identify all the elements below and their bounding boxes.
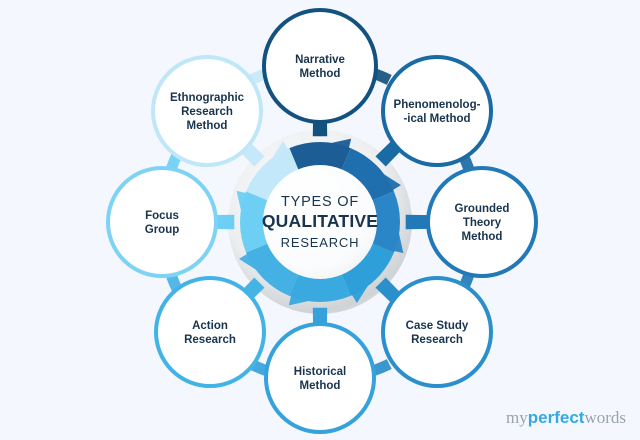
- node-label-action-research: Action: [192, 320, 228, 332]
- node-label-focus-group: Focus: [145, 210, 179, 222]
- node-label-phenomenological: -ical Method: [403, 113, 470, 125]
- logo-text-words: words: [584, 408, 626, 427]
- node-label-case-study: Research: [411, 334, 463, 346]
- node-label-grounded-theory: Theory: [463, 217, 502, 229]
- node-label-phenomenological: Phenomenolog-: [394, 99, 481, 111]
- center-line-2: QUALITATIVE: [262, 211, 378, 231]
- node-label-focus-group: Group: [145, 224, 180, 236]
- brand-logo: myperfectwords: [506, 409, 626, 426]
- node-label-narrative: Method: [300, 68, 341, 80]
- node-label-ethnographic: Ethnographic: [170, 92, 245, 104]
- center-line-1: TYPES OF: [281, 194, 359, 210]
- node-label-narrative: Narrative: [295, 54, 345, 66]
- node-label-ethnographic: Research: [181, 106, 233, 118]
- logo-text-my: my: [506, 408, 528, 427]
- node-label-action-research: Research: [184, 334, 236, 346]
- node-label-grounded-theory: Grounded: [455, 203, 510, 215]
- node-label-case-study: Case Study: [406, 320, 469, 332]
- logo-text-perfect: perfect: [528, 408, 585, 427]
- node-label-grounded-theory: Method: [462, 231, 503, 243]
- node-label-historical: Method: [300, 380, 341, 392]
- diagram-canvas: NarrativeMethodPhenomenolog--ical Method…: [0, 0, 640, 440]
- center-line-3: RESEARCH: [281, 235, 360, 250]
- node-label-historical: Historical: [294, 366, 346, 378]
- node-label-ethnographic: Method: [187, 120, 228, 132]
- qualitative-research-radial-diagram: NarrativeMethodPhenomenolog--ical Method…: [0, 0, 640, 440]
